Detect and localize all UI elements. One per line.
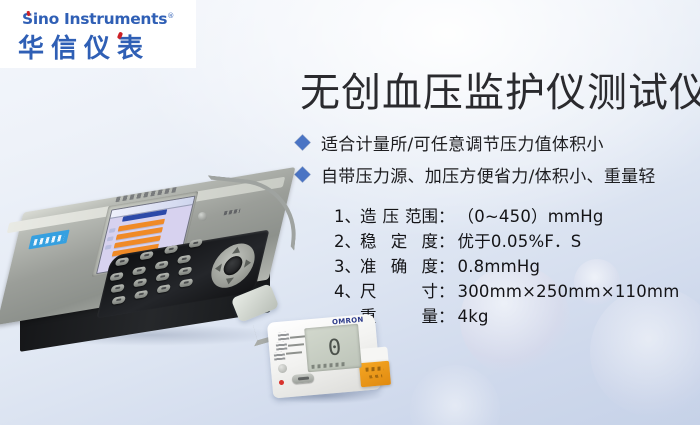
spec-label-part: 范围 — [405, 203, 438, 227]
spec-label-part: 准 — [360, 253, 377, 277]
monitor-scale-label — [278, 332, 290, 341]
spec-label: 尺 寸 — [360, 278, 438, 302]
hose-connector-port — [198, 212, 207, 221]
brand-logo: Sino Instruments® 华信仪表 — [0, 0, 196, 68]
monitor-reading-value: 0 — [327, 337, 342, 360]
spec-colon: ： — [438, 303, 455, 327]
spec-row: 4、 尺 寸 ： 300mm×250mm×110mm — [334, 278, 679, 303]
spec-row: 3、 准 确 度 ： 0.8mmHg — [334, 253, 679, 278]
brand-name-english: Sino Instruments® — [22, 10, 174, 28]
specification-list: 1、 造 压 范围 ： （0~450）mmHg 2、 稳 定 度 ： 优于0.0… — [334, 203, 679, 328]
spec-value: （0~450）mmHg — [458, 203, 604, 227]
spec-colon: ： — [438, 203, 455, 227]
product-photo-bp-monitor: OMRON 0 — [262, 312, 392, 404]
numeric-key[interactable] — [134, 290, 149, 299]
numeric-key[interactable] — [156, 284, 171, 293]
function-key[interactable] — [139, 251, 154, 260]
feature-list: 适合计量所/可任意调节压力值体积小 自带压力源、加压方便省力/体积小、重量轻 — [297, 129, 656, 193]
directional-pad[interactable] — [207, 240, 259, 291]
function-key[interactable] — [115, 257, 130, 266]
spec-label-part: 尺 — [360, 278, 377, 302]
brand-name-chinese: 华信仪表 — [18, 28, 150, 65]
diamond-bullet-icon — [295, 134, 311, 150]
feature-text: 适合计量所/可任意调节压力值体积小 — [321, 130, 604, 155]
spec-label: 准 确 度 — [360, 253, 438, 277]
spec-label-part: 量 — [422, 303, 439, 327]
spec-number: 3、 — [334, 253, 360, 277]
monitor-lcd-display: 0 — [304, 324, 362, 373]
page-title: 无创血压监护仪测试仪 — [300, 60, 700, 118]
numeric-key[interactable] — [133, 278, 148, 287]
monitor-orange-label — [359, 361, 391, 388]
spec-row: 2、 稳 定 度 ： 优于0.05%F．S — [334, 228, 679, 253]
spec-value: 0.8mmHg — [458, 257, 541, 276]
spec-value: 300mm×250mm×110mm — [458, 282, 680, 301]
arrow-right-icon[interactable] — [244, 258, 252, 267]
spec-colon: ： — [438, 253, 455, 277]
screen-side-marker — [107, 236, 114, 241]
spec-number: 2、 — [334, 228, 360, 252]
numeric-key[interactable] — [177, 255, 192, 264]
diamond-bullet-icon — [295, 166, 311, 182]
feature-item: 适合计量所/可任意调节压力值体积小 — [297, 129, 656, 155]
feature-item: 自带压力源、加压方便省力/体积小、重量轻 — [297, 161, 656, 187]
spec-label-part: 定 — [391, 228, 408, 252]
spec-colon: ： — [438, 228, 455, 252]
spec-row: 1、 造 压 范围 ： （0~450）mmHg — [334, 203, 679, 228]
arrow-down-icon[interactable] — [225, 277, 234, 285]
function-key[interactable] — [164, 245, 179, 254]
monitor-scale-label — [276, 342, 288, 351]
spec-colon: ： — [438, 278, 455, 302]
spec-label-part: 压 — [383, 203, 400, 227]
spec-label: 稳 定 度 — [360, 228, 438, 252]
background-bokeh-circle — [410, 365, 500, 425]
product-banner: Sino Instruments® 华信仪表 无创血压监护仪测试仪 适合计量所/… — [0, 0, 700, 425]
numeric-key[interactable] — [111, 296, 126, 305]
numeric-key[interactable] — [132, 266, 147, 275]
monitor-scale-label — [274, 352, 286, 361]
spec-label-part: 稳 — [360, 228, 377, 252]
numeric-key[interactable] — [154, 260, 169, 269]
feature-text: 自带压力源、加压方便省力/体积小、重量轻 — [321, 162, 656, 187]
screen-side-marker — [109, 228, 116, 233]
arrow-left-icon[interactable] — [214, 263, 222, 272]
spec-number: 1、 — [334, 203, 360, 227]
numeric-key[interactable] — [178, 266, 193, 275]
numeric-key[interactable] — [155, 272, 170, 281]
arrow-up-icon[interactable] — [232, 246, 241, 254]
spec-label-part: 度 — [422, 228, 439, 252]
spec-label-part: 造 — [360, 203, 377, 227]
spec-value: 优于0.05%F．S — [458, 228, 582, 252]
spec-value: 4kg — [458, 307, 489, 326]
monitor-secondary-readout — [311, 362, 345, 369]
numeric-key[interactable] — [179, 278, 194, 287]
numeric-key[interactable] — [110, 284, 125, 293]
spec-label-part: 度 — [422, 253, 439, 277]
registered-mark-icon: ® — [167, 12, 174, 20]
spec-label: 造 压 范围 — [360, 203, 438, 227]
spec-number: 4、 — [334, 278, 360, 302]
numeric-key[interactable] — [109, 272, 124, 281]
dpad-center-button[interactable] — [222, 255, 244, 277]
spec-label-part: 寸 — [422, 278, 439, 302]
spec-label-part: 确 — [391, 253, 408, 277]
screen-side-marker — [105, 245, 112, 250]
